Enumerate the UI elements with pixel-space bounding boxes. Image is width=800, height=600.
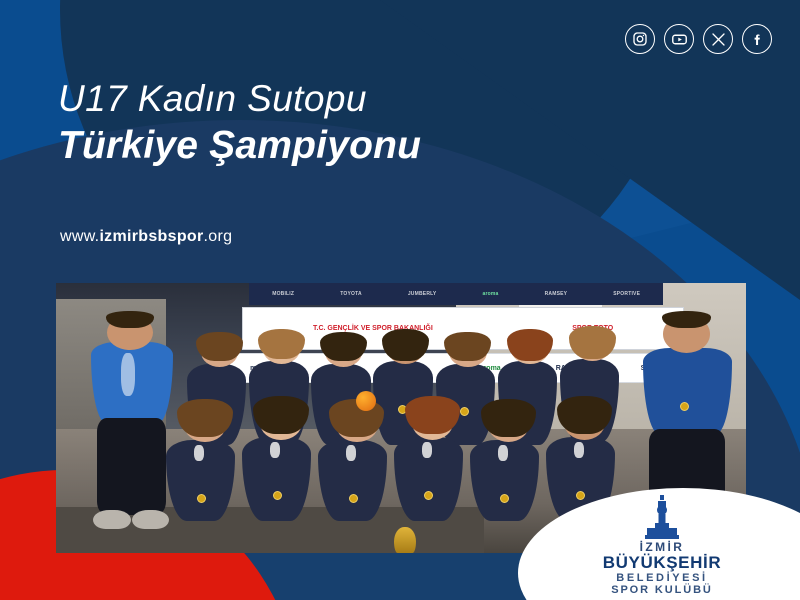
headline-block: U17 Kadın Sutopu Türkiye Şampiyonu: [58, 78, 421, 169]
athlete-front-2-hair: [253, 396, 308, 434]
coach-left-shoe-2: [132, 510, 169, 529]
sponsor-logo: RAMSEY: [542, 291, 571, 297]
social-links: [625, 24, 772, 54]
sponsor-banner-top: MOBILIZ TOYOTA JUMBERLY aroma RAMSEY SPO…: [249, 283, 663, 305]
athlete-front-2-medal: [273, 491, 282, 500]
x-twitter-icon[interactable]: [703, 24, 733, 54]
poster-canvas: U17 Kadın Sutopu Türkiye Şampiyonu www.i…: [0, 0, 800, 600]
athlete-back-2-hair: [258, 329, 305, 359]
sponsor-logo: SPORTIVE: [610, 291, 643, 297]
website-url[interactable]: www.izmirbsbspor.org: [60, 228, 232, 246]
athlete-front-5-medal: [500, 494, 509, 503]
sponsor-logo: aroma: [480, 291, 502, 297]
logo-line-spor-kulubu: SPOR KULÜBÜ: [588, 584, 736, 596]
instagram-icon[interactable]: [625, 24, 655, 54]
athlete-front-1-hair: [177, 399, 232, 437]
athlete-front-5-ribbon: [498, 445, 508, 461]
youtube-icon[interactable]: [664, 24, 694, 54]
athlete-front-1-ribbon: [194, 445, 204, 461]
sponsor-logo: MOBILIZ: [269, 291, 297, 297]
clock-tower-icon: [638, 494, 686, 540]
athlete-front-3-ribbon: [346, 445, 356, 461]
sponsor-logo: JUMBERLY: [405, 291, 440, 297]
logo-line-buyuksehir: BÜYÜKŞEHİR: [588, 554, 736, 572]
coach-left-legs: [97, 418, 166, 515]
headline-line-2: Türkiye Şampiyonu: [58, 124, 421, 168]
athlete-back-3-hair: [320, 332, 367, 362]
athlete-back-1-hair: [196, 332, 243, 362]
coach-left-lanyard: [121, 353, 135, 396]
website-prefix: www.: [60, 228, 99, 245]
facebook-icon[interactable]: [742, 24, 772, 54]
water-polo-ball: [356, 391, 376, 411]
coach-right-hair: [662, 311, 712, 327]
coach-left-shoe-1: [93, 510, 130, 529]
coach-right-torso: [643, 348, 733, 434]
athlete-front-6-ribbon: [574, 442, 584, 458]
headline-line-1: U17 Kadın Sutopu: [58, 78, 421, 120]
logo-line-belediyesi: BELEDİYESİ: [588, 572, 736, 584]
athlete-front-5-hair: [481, 399, 536, 437]
website-suffix: .org: [204, 228, 233, 245]
sponsor-logo: TOYOTA: [337, 291, 365, 297]
athlete-front-3-medal: [349, 494, 358, 503]
athlete-front-4-ribbon: [422, 442, 432, 458]
logo-line-izmir: İZMİR: [588, 541, 736, 554]
trophy: [394, 527, 416, 553]
athlete-back-7-hair: [569, 326, 616, 358]
athlete-front-6-hair: [557, 396, 612, 434]
website-name: izmirbsbspor: [99, 228, 203, 245]
club-logo: İZMİR BÜYÜKŞEHİR BELEDİYESİ SPOR KULÜBÜ: [588, 494, 736, 596]
athlete-front-2-ribbon: [270, 442, 280, 458]
coach-left-hair: [106, 311, 154, 327]
athlete-front-1-medal: [197, 494, 206, 503]
